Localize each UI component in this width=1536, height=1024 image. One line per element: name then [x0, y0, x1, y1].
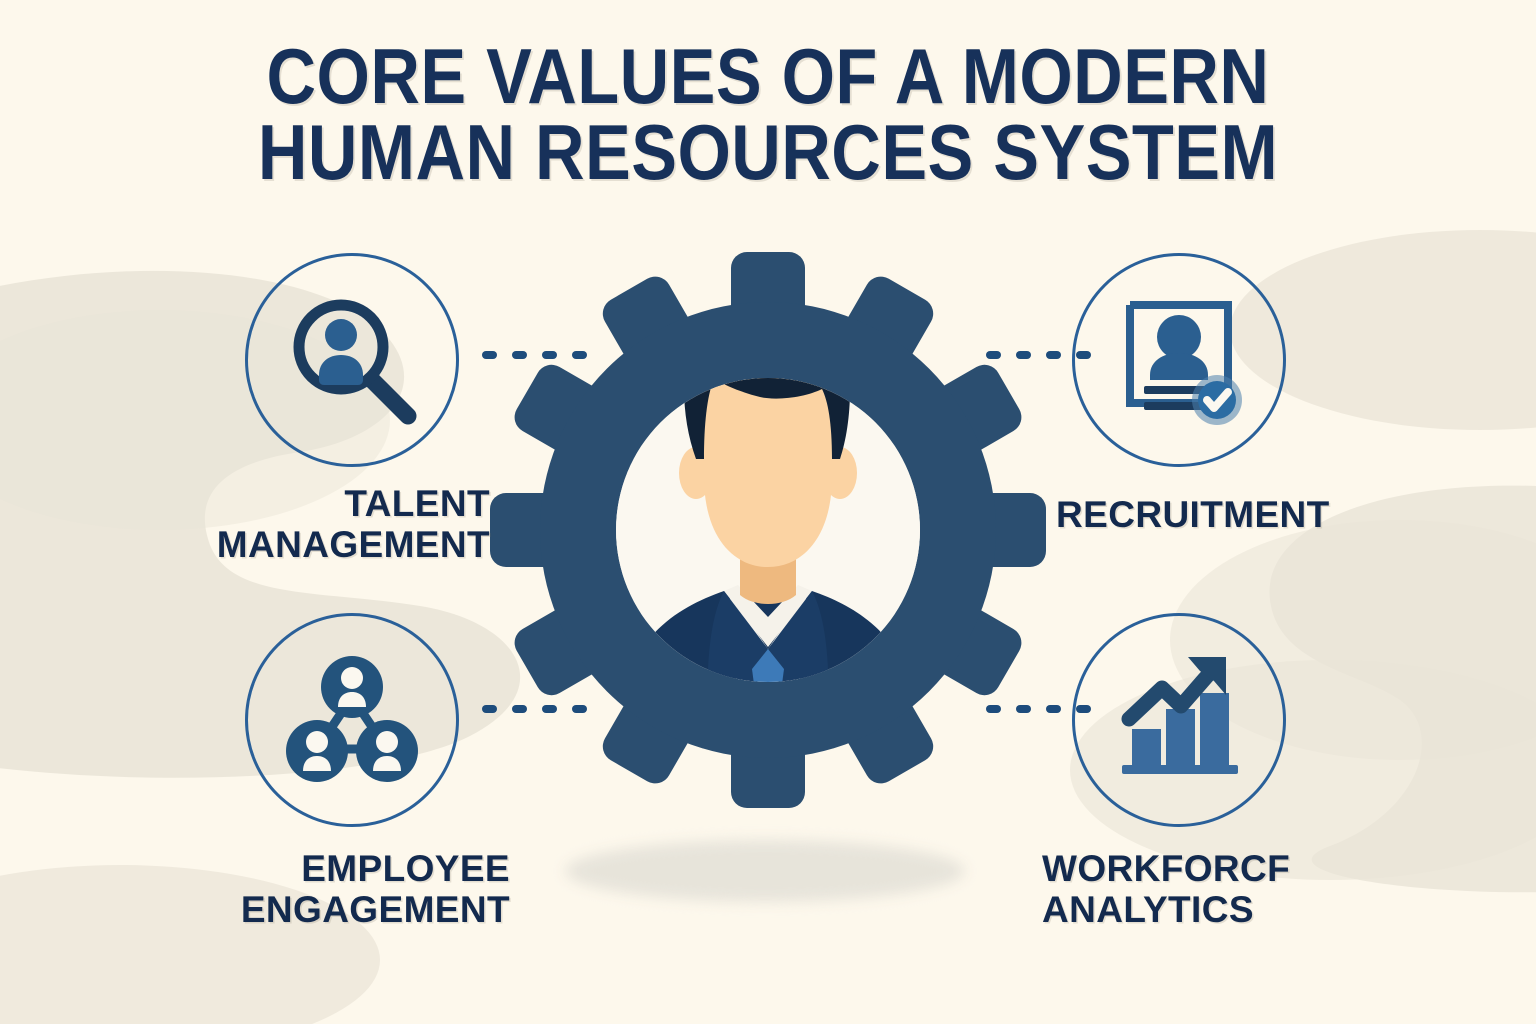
connector-dot — [572, 351, 587, 359]
gear-businessman-icon — [478, 245, 1058, 845]
connector-top-left — [482, 351, 587, 359]
people-network-icon — [245, 613, 459, 827]
connector-dot — [1046, 705, 1061, 713]
connector-dot — [542, 705, 557, 713]
connector-dot — [482, 705, 497, 713]
connector-dot — [512, 351, 527, 359]
title-line-1: CORE VALUES OF A MODERN — [92, 38, 1444, 114]
bar-chart-arrow-icon — [1072, 613, 1286, 827]
connector-dot — [1016, 705, 1031, 713]
node-label-workforce-analytics: WORKFORCF ANALYTICS — [1042, 848, 1512, 931]
connector-dot — [482, 351, 497, 359]
node-label-employee-engagement: EMPLOYEE ENGAGEMENT — [0, 848, 510, 931]
connector-dot — [1016, 351, 1031, 359]
resume-card-check-icon — [1072, 253, 1286, 467]
connector-dot — [512, 705, 527, 713]
title-line-2: HUMAN RESOURCES SYSTEM — [92, 114, 1444, 190]
infographic-canvas: CORE VALUES OF A MODERN HUMAN RESOURCES … — [0, 0, 1536, 1024]
person-magnifier-icon — [245, 253, 459, 467]
node-label-recruitment: RECRUITMENT — [1056, 494, 1516, 535]
gear-shadow — [565, 840, 965, 902]
connector-dot — [572, 705, 587, 713]
connector-dot — [986, 705, 1001, 713]
page-title: CORE VALUES OF A MODERN HUMAN RESOURCES … — [92, 38, 1444, 191]
node-label-talent-management: TALENT MANAGEMENT — [0, 483, 490, 566]
connector-bottom-left — [482, 705, 587, 713]
connector-dot — [986, 351, 1001, 359]
connector-dot — [542, 351, 557, 359]
connector-dot — [1046, 351, 1061, 359]
